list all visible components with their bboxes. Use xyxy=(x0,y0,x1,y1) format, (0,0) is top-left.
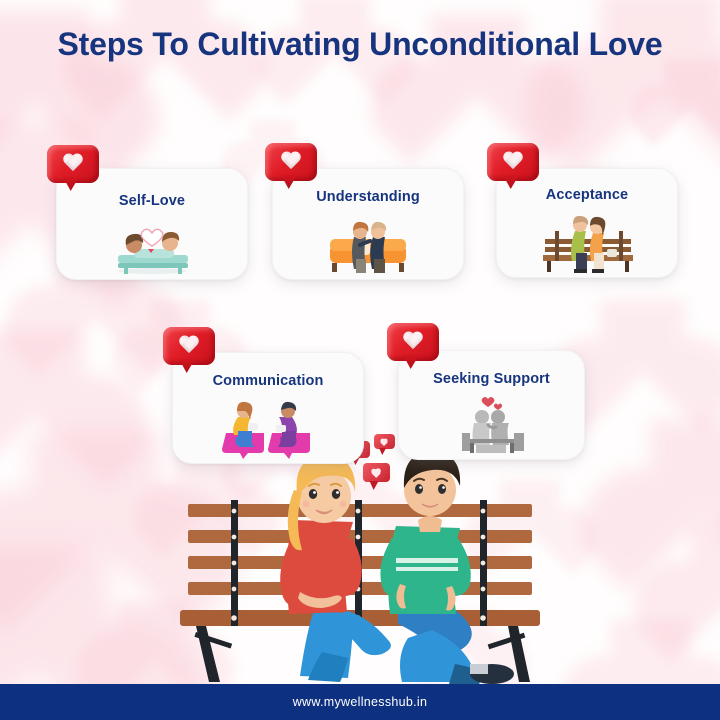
heart-badge-icon xyxy=(487,143,539,189)
floating-heart-badge-icon xyxy=(363,463,390,490)
step-card-art xyxy=(497,209,677,273)
park-bench xyxy=(180,500,540,682)
step-card-art xyxy=(399,395,584,455)
step-card-art xyxy=(57,221,247,275)
step-card-label: Communication xyxy=(173,373,363,389)
step-card-understanding[interactable]: Understanding xyxy=(272,168,464,280)
step-card-label: Seeking Support xyxy=(399,371,584,387)
couple-bench-scene xyxy=(0,434,720,684)
footer-url[interactable]: www.mywellnesshub.in xyxy=(293,695,428,709)
heart-badge-icon xyxy=(387,323,439,369)
page-title: Steps To Cultivating Unconditional Love xyxy=(0,24,720,65)
heart-badge-icon xyxy=(47,145,99,191)
heart-badge-icon xyxy=(163,327,215,373)
step-card-communication[interactable]: Communication xyxy=(172,352,364,464)
step-card-label: Self-Love xyxy=(57,193,247,209)
footer-bar: www.mywellnesshub.in xyxy=(0,684,720,720)
step-card-label: Understanding xyxy=(273,189,463,205)
heart-badge-icon xyxy=(265,143,317,189)
step-card-art xyxy=(173,397,363,459)
background-heart xyxy=(665,60,720,107)
floating-heart-badge-icon xyxy=(374,434,395,455)
step-card-acceptance[interactable]: Acceptance xyxy=(496,168,678,278)
step-card-label: Acceptance xyxy=(497,187,677,203)
background-heart xyxy=(0,330,85,416)
step-card-art xyxy=(273,213,463,275)
step-card-seeking-support[interactable]: Seeking Support xyxy=(398,350,585,460)
step-card-self-love[interactable]: Self-Love xyxy=(56,168,248,280)
background-heart xyxy=(600,300,685,373)
